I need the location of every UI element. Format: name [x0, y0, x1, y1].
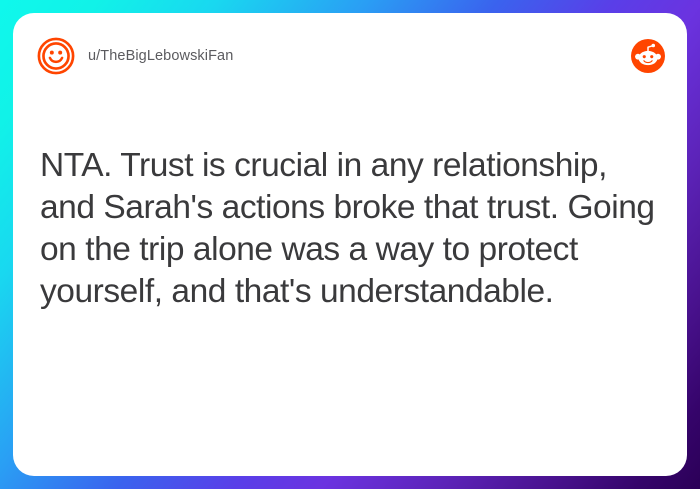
reddit-comment-card: u/TheBigLebowskiFan N [13, 13, 687, 476]
card-body: NTA. Trust is crucial in any relationshi… [13, 99, 687, 476]
reddit-snoo-logo-icon[interactable] [631, 39, 665, 73]
smiley-face-avatar-icon[interactable] [37, 37, 75, 75]
gradient-backdrop: u/TheBigLebowskiFan N [0, 0, 700, 489]
comment-text: NTA. Trust is crucial in any relationshi… [40, 145, 661, 313]
card-header: u/TheBigLebowskiFan [13, 13, 687, 99]
username-label[interactable]: u/TheBigLebowskiFan [88, 48, 233, 64]
